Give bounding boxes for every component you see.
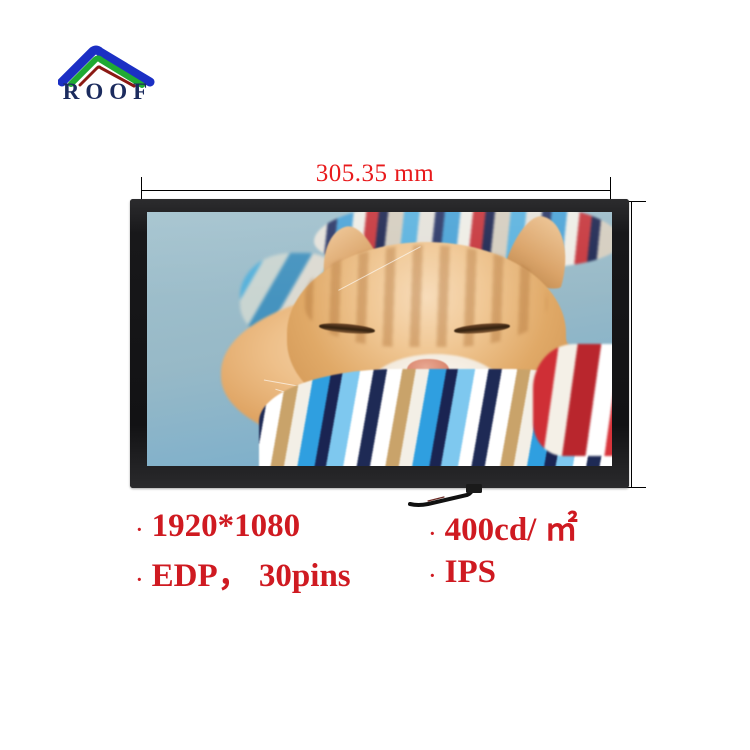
width-dimension-line bbox=[141, 190, 611, 191]
spec-label: 1920*1080 bbox=[152, 508, 301, 545]
photo-blanket-red bbox=[533, 344, 612, 456]
product-spec-image: ROOF 305.35 mm 178.11 mm bbox=[0, 0, 750, 750]
spec-label: IPS bbox=[445, 554, 496, 591]
brand-logo: ROOF bbox=[58, 42, 158, 104]
spec-brightness: · 400cd/ ㎡ bbox=[429, 502, 578, 550]
spec-panel-type: · IPS bbox=[429, 554, 496, 591]
spec-label: EDP， 30pins bbox=[152, 548, 351, 596]
spec-label: 400cd/ ㎡ bbox=[445, 502, 578, 550]
specification-list: · 1920*1080 · 400cd/ ㎡ · EDP， 30pins · I… bbox=[136, 503, 616, 595]
spec-resolution: · 1920*1080 bbox=[136, 508, 429, 545]
brand-wordmark: ROOF bbox=[60, 80, 156, 103]
bullet-icon: · bbox=[429, 524, 436, 544]
panel-screen bbox=[147, 212, 612, 466]
bullet-icon: · bbox=[429, 566, 436, 586]
spec-row: · 1920*1080 · 400cd/ ㎡ bbox=[136, 503, 616, 549]
height-dimension-line bbox=[631, 201, 632, 487]
width-dimension-label: 305.35 mm bbox=[140, 160, 610, 188]
bullet-icon: · bbox=[136, 520, 143, 540]
spec-row: · EDP， 30pins · IPS bbox=[136, 549, 616, 595]
spec-interface: · EDP， 30pins bbox=[136, 548, 429, 596]
lcd-display-panel bbox=[130, 199, 629, 488]
bullet-icon: · bbox=[136, 570, 143, 590]
